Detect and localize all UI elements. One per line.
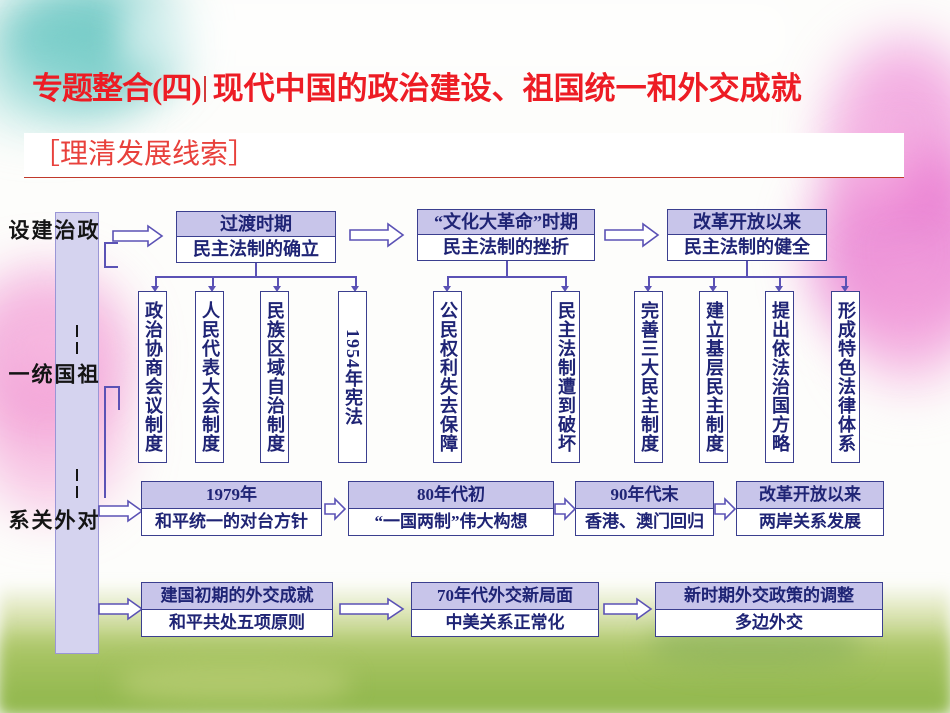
rail-divider (76, 342, 78, 354)
rail-divider (76, 325, 78, 337)
tree-connector (447, 276, 566, 278)
reunification-box-header: 改革开放以来 (737, 482, 883, 509)
leaf-box-label: 人民代表大会制度 (200, 301, 219, 453)
block-arrow-right-icon (324, 497, 347, 521)
leaf-box-label: 提出依法治国方略 (770, 301, 789, 453)
diplomacy-box-1970s[interactable]: 70年代外交新局面 中美关系正常化 (411, 582, 599, 637)
diplomacy-box-header: 70年代外交新局面 (412, 583, 598, 610)
slide-title-prefix: 专题整合(四) (32, 71, 201, 106)
rail-connector-politics (104, 266, 118, 268)
category-rail: 政治建设 祖国统一 对外关系 (55, 212, 99, 654)
diplomacy-box-header: 建国初期的外交成就 (142, 583, 332, 610)
stage-box-body: 民主法制的健全 (668, 235, 826, 260)
reunification-box-cross-strait[interactable]: 改革开放以来 两岸关系发展 (736, 481, 884, 536)
leaf-box-legal-system-damaged[interactable]: 民主法制遭到破坏 (551, 291, 580, 463)
diplomacy-box-new-era[interactable]: 新时期外交政策的调整 多边外交 (655, 582, 883, 637)
tree-connector (506, 261, 508, 276)
title-separator (204, 76, 206, 102)
stage-box-body: 民主法制的确立 (177, 237, 335, 262)
leaf-box-grassroots-democracy[interactable]: 建立基层民主制度 (699, 291, 728, 463)
reunification-box-header: 1979年 (142, 482, 321, 509)
reunification-box-body: “一国两制”伟大构想 (349, 509, 553, 535)
rail-connector-reunification (104, 386, 118, 388)
rail-item-reunification: 祖国统一 (56, 363, 98, 385)
leaf-box-citizen-rights[interactable]: 公民权利失去保障 (433, 291, 462, 463)
rail-connector-reunification (104, 386, 106, 498)
block-arrow-right-icon (98, 499, 144, 523)
rail-connector-politics (104, 242, 106, 268)
reunification-box-header: 90年代末 (576, 482, 713, 509)
reunification-box-one-country-two-systems[interactable]: 80年代初 “一国两制”伟大构想 (348, 481, 554, 536)
reunification-box-1979[interactable]: 1979年 和平统一的对台方针 (141, 481, 322, 536)
rail-item-politics: 政治建设 (56, 219, 98, 241)
stage-box-cultural-revolution[interactable]: “文化大革命”时期 民主法制的挫折 (417, 209, 595, 261)
reunification-box-body: 两岸关系发展 (737, 509, 883, 535)
leaf-box-constitution-1954[interactable]: 1954年宪法 (338, 291, 367, 463)
stage-box-transition[interactable]: 过渡时期 民主法制的确立 (176, 211, 336, 263)
leaf-box-label: 1954年宪法 (343, 329, 362, 426)
rail-item-diplomacy: 对外关系 (56, 509, 98, 531)
reunification-box-body: 香港、澳门回归 (576, 509, 713, 535)
diplomacy-box-body: 中美关系正常化 (412, 610, 598, 636)
block-arrow-right-icon (349, 222, 405, 248)
block-arrow-right-icon (714, 497, 736, 521)
leaf-box-regional-autonomy[interactable]: 民族区域自治制度 (260, 291, 289, 463)
section-header-bar: ［理清发展线索］ (24, 133, 904, 178)
leaf-box-label: 公民权利失去保障 (438, 301, 457, 453)
stage-box-body: 民主法制的挫折 (418, 235, 594, 260)
rail-divider (76, 469, 78, 481)
leaf-box-label: 形成特色法律体系 (836, 301, 855, 453)
leaf-box-cppcc[interactable]: 政治协商会议制度 (138, 291, 167, 463)
tree-connector (155, 276, 356, 278)
diplomacy-box-founding-era[interactable]: 建国初期的外交成就 和平共处五项原则 (141, 582, 333, 637)
stage-box-header: “文化大革命”时期 (418, 210, 594, 235)
block-arrow-right-icon (603, 597, 653, 621)
stage-box-header: 改革开放以来 (668, 210, 826, 235)
rail-divider (76, 486, 78, 498)
reunification-box-handover[interactable]: 90年代末 香港、澳门回归 (575, 481, 714, 536)
slide-title: 专题整合(四)现代中国的政治建设、祖国统一和外交成就 (32, 68, 922, 110)
block-arrow-right-icon (98, 597, 144, 621)
leaf-box-three-democracies[interactable]: 完善三大民主制度 (634, 291, 663, 463)
diplomacy-box-body: 多边外交 (656, 610, 882, 636)
section-header-label: ［理清发展线索］ (32, 132, 256, 172)
block-arrow-right-icon (554, 497, 576, 521)
leaf-box-label: 政治协商会议制度 (143, 301, 162, 453)
leaf-box-rule-of-law[interactable]: 提出依法治国方略 (765, 291, 794, 463)
leaf-box-npc[interactable]: 人民代表大会制度 (195, 291, 224, 463)
block-arrow-right-icon (112, 224, 164, 248)
diplomacy-box-header: 新时期外交政策的调整 (656, 583, 882, 610)
tree-connector (746, 261, 748, 276)
stage-box-reform-era[interactable]: 改革开放以来 民主法制的健全 (667, 209, 827, 261)
rail-connector-reunification (118, 386, 120, 410)
block-arrow-right-icon (339, 597, 405, 621)
tree-connector (648, 276, 846, 278)
leaf-box-label: 建立基层民主制度 (704, 301, 723, 453)
leaf-box-legal-framework[interactable]: 形成特色法律体系 (831, 291, 860, 463)
leaf-box-label: 民族区域自治制度 (265, 301, 284, 453)
slide-title-main: 现代中国的政治建设、祖国统一和外交成就 (213, 71, 802, 106)
tree-connector (255, 263, 257, 277)
reunification-box-header: 80年代初 (349, 482, 553, 509)
reunification-box-body: 和平统一的对台方针 (142, 509, 321, 535)
stage-box-header: 过渡时期 (177, 212, 335, 237)
leaf-box-label: 完善三大民主制度 (639, 301, 658, 453)
leaf-box-label: 民主法制遭到破坏 (556, 301, 575, 453)
diplomacy-box-body: 和平共处五项原则 (142, 610, 332, 636)
block-arrow-right-icon (604, 222, 660, 248)
